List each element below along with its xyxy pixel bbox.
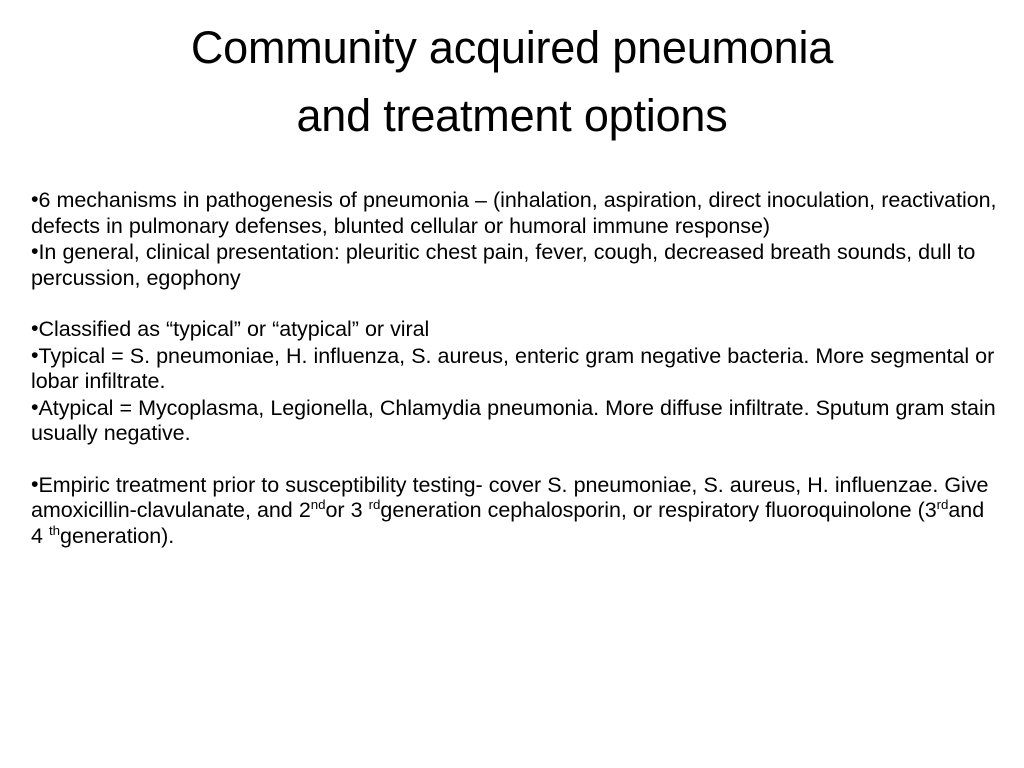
bullet-dot-icon: • bbox=[31, 316, 38, 340]
slide-body: •6 mechanisms in pathogenesis of pneumon… bbox=[31, 188, 997, 549]
slide-title: Community acquired pneumonia and treatme… bbox=[62, 14, 962, 149]
bullet-item-2-text: In general, clinical presentation: pleur… bbox=[31, 240, 975, 290]
ordinal-suffix-nd: nd bbox=[311, 497, 326, 512]
bullet-item-2: •In general, clinical presentation: pleu… bbox=[31, 240, 997, 291]
bullet-item-5: •Atypical = Mycoplasma, Legionella, Chla… bbox=[31, 396, 997, 447]
paragraph-spacer bbox=[31, 447, 997, 473]
bullet-item-3: •Classified as “typical” or “atypical” o… bbox=[31, 317, 997, 343]
bullet-dot-icon: • bbox=[31, 187, 38, 211]
bullet-item-1-text: 6 mechanisms in pathogenesis of pneumoni… bbox=[31, 188, 996, 238]
bullet-item-1: •6 mechanisms in pathogenesis of pneumon… bbox=[31, 188, 997, 239]
bullet-item-6-text-part-5: generation). bbox=[60, 524, 174, 548]
bullet-item-5-text: Atypical = Mycoplasma, Legionella, Chlam… bbox=[31, 396, 996, 446]
bullet-dot-icon: • bbox=[31, 472, 38, 496]
bullet-dot-icon: • bbox=[31, 395, 38, 419]
bullet-item-4: •Typical = S. pneumoniae, H. influenza, … bbox=[31, 344, 997, 395]
ordinal-suffix-rd-1: rd bbox=[369, 497, 381, 512]
bullet-item-3-text: Classified as “typical” or “atypical” or… bbox=[38, 317, 429, 341]
bullet-item-4-text: Typical = S. pneumoniae, H. influenza, S… bbox=[31, 344, 994, 394]
paragraph-spacer bbox=[31, 291, 997, 317]
bullet-item-6-text-part-2: or 3 bbox=[325, 498, 368, 522]
slide-title-line-2: and treatment options bbox=[62, 82, 962, 150]
bullet-dot-icon: • bbox=[31, 239, 38, 263]
slide-canvas: Community acquired pneumonia and treatme… bbox=[0, 0, 1024, 768]
bullet-item-6-text-part-3: generation cephalosporin, or respiratory… bbox=[380, 498, 936, 522]
ordinal-suffix-th: th bbox=[49, 522, 60, 537]
slide-title-line-1: Community acquired pneumonia bbox=[62, 14, 962, 82]
ordinal-suffix-rd-2: rd bbox=[937, 497, 949, 512]
bullet-item-6: •Empiric treatment prior to susceptibili… bbox=[31, 473, 997, 550]
bullet-dot-icon: • bbox=[31, 343, 38, 367]
